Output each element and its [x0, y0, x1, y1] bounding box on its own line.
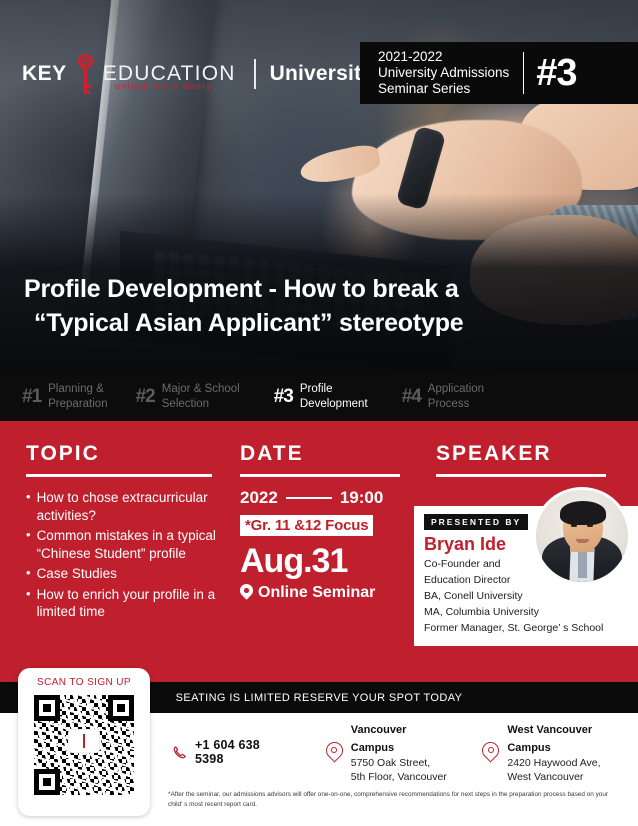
campus-address-1: 5750 Oak Street, 5th Floor, Vancouver	[351, 756, 453, 784]
step-label-1-line2: Preparation	[48, 398, 107, 410]
date-rule	[240, 474, 400, 477]
series-badge: 2021-2022 University Admissions Seminar …	[360, 42, 638, 104]
brand-logo[interactable]: KEY EDUCATION unlock more doors. Univers…	[22, 52, 373, 96]
list-item: • How to enrich your profile in a limite…	[26, 586, 226, 621]
date-column: DATE 2022 19:00 *Gr. 11 &12 Focus Aug.31…	[240, 442, 408, 602]
key-icon	[73, 52, 99, 96]
campus-address-1-line2: 5th Floor, Vancouver	[351, 770, 453, 784]
credential-3: BA, Conell University	[424, 589, 638, 605]
campus-address-1-line1: 5750 Oak Street,	[351, 756, 453, 770]
step-label-2: Major & School Selection	[162, 382, 240, 411]
topic-bullet-3: Case Studies	[37, 565, 117, 583]
campus-name-2: West Vancouver Campus	[507, 724, 592, 754]
speaker-heading: SPEAKER	[436, 442, 614, 466]
logo-key-text: KEY	[22, 62, 67, 86]
topic-bullet-4: How to enrich your profile in a limited …	[37, 586, 226, 621]
seminar-poster: KEY EDUCATION unlock more doors. Univers…	[0, 0, 638, 826]
step-label-2-line2: Selection	[162, 398, 209, 410]
contact-campus-vancouver: Vancouver Campus 5750 Oak Street, 5th Fl…	[326, 720, 453, 784]
contact-phone[interactable]: +1 604 638 5398	[172, 738, 292, 766]
series-number: #3	[536, 52, 596, 95]
phone-icon	[172, 745, 187, 760]
series-line2: University Admissions	[378, 65, 509, 81]
topic-rule	[26, 474, 212, 477]
step-label-4-line1: Application	[428, 383, 484, 395]
date-location-row: Online Seminar	[240, 584, 408, 602]
step-item-2[interactable]: #2 Major & School Selection	[136, 382, 240, 411]
seminar-steps-bar: #1 Planning & Preparation #2 Major & Sch…	[0, 372, 638, 424]
step-item-3[interactable]: #3 Profile Development	[274, 382, 368, 411]
step-label-4-line2: Process	[428, 398, 470, 410]
bullet-dot-icon: •	[26, 565, 31, 583]
credential-5: Former Manager, St. George’ s School	[424, 621, 638, 637]
topic-heading: TOPIC	[26, 442, 226, 466]
date-location: Online Seminar	[258, 584, 375, 602]
title-line-2: “Typical Asian Applicant” stereotype	[0, 306, 638, 340]
map-pin-icon	[326, 742, 343, 763]
step-label-4: Application Process	[428, 382, 484, 411]
campus-address-2-line1: 2420 Haywood Ave,	[507, 756, 638, 770]
speaker-column: SPEAKER	[436, 442, 614, 477]
date-year: 2022	[240, 488, 278, 508]
topic-bullet-2: Common mistakes in a typical “Chinese St…	[37, 527, 226, 562]
date-day: Aug.31	[240, 542, 408, 581]
qr-title: SCAN TO SIGN UP	[18, 677, 150, 688]
series-badge-lines: 2021-2022 University Admissions Seminar …	[360, 49, 509, 96]
date-heading: DATE	[240, 442, 408, 466]
fineprint-note: *After the seminar, our admissions advis…	[168, 790, 614, 810]
logo-university-text: University	[270, 62, 374, 86]
list-item: • How to chose extracurricular activitie…	[26, 489, 226, 524]
logo-tagline: unlock more doors.	[115, 81, 217, 91]
cta-text: SEATING IS LIMITED RESERVE YOUR SPOT TOD…	[176, 692, 463, 704]
bullet-dot-icon: •	[26, 586, 31, 621]
step-number-1: #1	[22, 386, 41, 408]
grade-focus-tag: *Gr. 11 &12 Focus	[240, 515, 373, 536]
bullet-dot-icon: •	[26, 489, 31, 524]
qr-code-icon[interactable]	[34, 695, 134, 795]
presented-by-tag: PRESENTED BY	[424, 514, 528, 530]
step-label-3-line1: Profile	[300, 383, 333, 395]
speaker-card: PRESENTED BY Bryan Ide Co-Founder and Ed…	[414, 506, 638, 646]
avatar	[536, 490, 628, 582]
credential-4: MA, Columbia University	[424, 605, 638, 621]
step-label-1-line1: Planning &	[48, 383, 104, 395]
step-number-2: #2	[136, 386, 155, 408]
contact-campus-west-vancouver: West Vancouver Campus 2420 Haywood Ave, …	[482, 720, 638, 784]
badge-separator	[523, 52, 524, 94]
step-label-3-line2: Development	[300, 398, 368, 410]
step-item-4[interactable]: #4 Application Process	[402, 382, 484, 411]
list-item: • Common mistakes in a typical “Chinese …	[26, 527, 226, 562]
step-item-1[interactable]: #1 Planning & Preparation	[22, 382, 108, 411]
logo-divider	[254, 59, 256, 89]
topic-column: TOPIC • How to chose extracurricular act…	[26, 442, 226, 624]
date-time: 19:00	[340, 488, 383, 508]
step-number-4: #4	[402, 386, 421, 408]
series-line3: Seminar Series	[378, 81, 509, 97]
title-line-1: Profile Development - How to break a	[0, 272, 638, 306]
step-label-3: Profile Development	[300, 382, 368, 411]
date-year-time-row: 2022 19:00	[240, 488, 408, 508]
speaker-rule	[436, 474, 606, 477]
step-label-2-line1: Major & School	[162, 383, 240, 395]
page-title: Profile Development - How to break a “Ty…	[0, 272, 638, 340]
list-item: • Case Studies	[26, 565, 226, 583]
qr-signup-card[interactable]: SCAN TO SIGN UP	[18, 668, 150, 816]
map-pin-icon	[240, 584, 253, 602]
step-label-1: Planning & Preparation	[48, 382, 107, 411]
campus-address-2-line2: West Vancouver	[507, 770, 638, 784]
map-pin-icon	[482, 742, 499, 763]
date-dash	[286, 497, 332, 499]
phone-number: +1 604 638 5398	[195, 738, 292, 766]
topic-bullet-1: How to chose extracurricular activities?	[37, 489, 226, 524]
series-years: 2021-2022	[378, 49, 509, 65]
campus-name-1: Vancouver Campus	[351, 724, 407, 754]
bullet-dot-icon: •	[26, 527, 31, 562]
topic-bullet-list: • How to chose extracurricular activitie…	[26, 489, 226, 621]
step-number-3: #3	[274, 386, 293, 408]
campus-address-2: 2420 Haywood Ave, West Vancouver	[507, 756, 638, 784]
